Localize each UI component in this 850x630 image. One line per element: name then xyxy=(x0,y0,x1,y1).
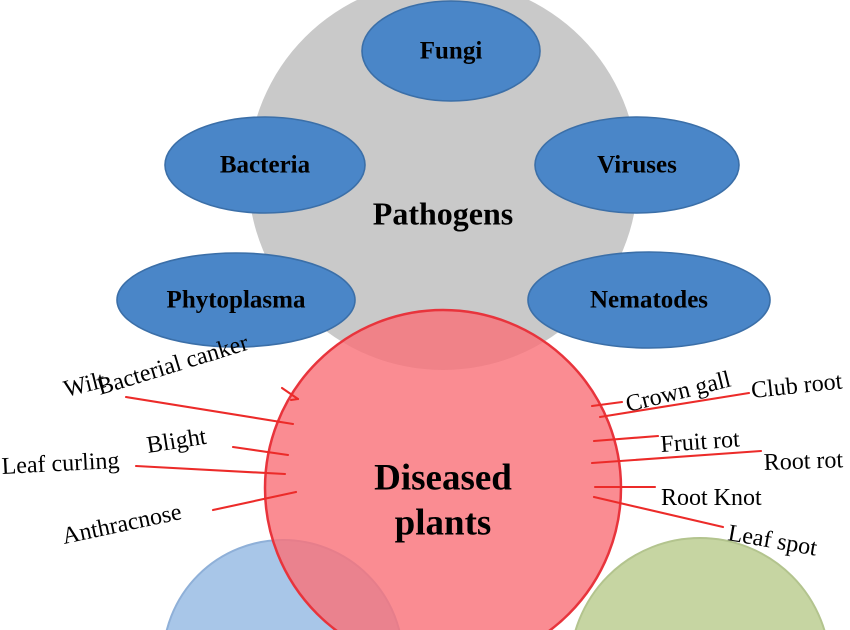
diseased-plants-label-line2: plants xyxy=(395,502,492,543)
pathogen-node-fungi[interactable]: Fungi xyxy=(362,1,540,101)
callout-label-anthracnose: Anthracnose xyxy=(60,499,184,550)
nematodes-label: Nematodes xyxy=(590,287,708,314)
diagram-canvas: Fungi Bacteria Viruses Phytoplasma Nemat… xyxy=(0,0,850,630)
leader-line-bacterial-canker-ext xyxy=(291,399,298,400)
leader-line-leaf-curling xyxy=(136,466,285,474)
callout-label-leaf-curling: Leaf curling xyxy=(1,448,120,480)
callout-label-club-root: Club root xyxy=(750,369,844,404)
diseased-plants-label-line1: Diseased xyxy=(374,457,512,498)
pathogens-group-label: Pathogens xyxy=(373,195,513,231)
callout-label-fruit-rot: Fruit rot xyxy=(660,426,741,457)
callout-label-blight: Blight xyxy=(145,424,209,459)
diagram-root: Fungi Bacteria Viruses Phytoplasma Nemat… xyxy=(0,0,850,630)
callout-label-root-rot: Root rot xyxy=(763,447,844,476)
callout-label-crown-gall: Crown gall xyxy=(623,367,734,418)
pathogen-node-nematodes[interactable]: Nematodes xyxy=(528,252,770,348)
leader-line-wilt xyxy=(126,397,293,424)
phytoplasma-label: Phytoplasma xyxy=(167,287,306,314)
callout-label-root-knot: Root Knot xyxy=(661,485,762,511)
fungi-label: Fungi xyxy=(420,38,483,65)
bacteria-label: Bacteria xyxy=(220,152,311,179)
viruses-label: Viruses xyxy=(597,152,677,179)
pathogen-node-bacteria[interactable]: Bacteria xyxy=(165,117,365,213)
pathogen-node-viruses[interactable]: Viruses xyxy=(535,117,739,213)
